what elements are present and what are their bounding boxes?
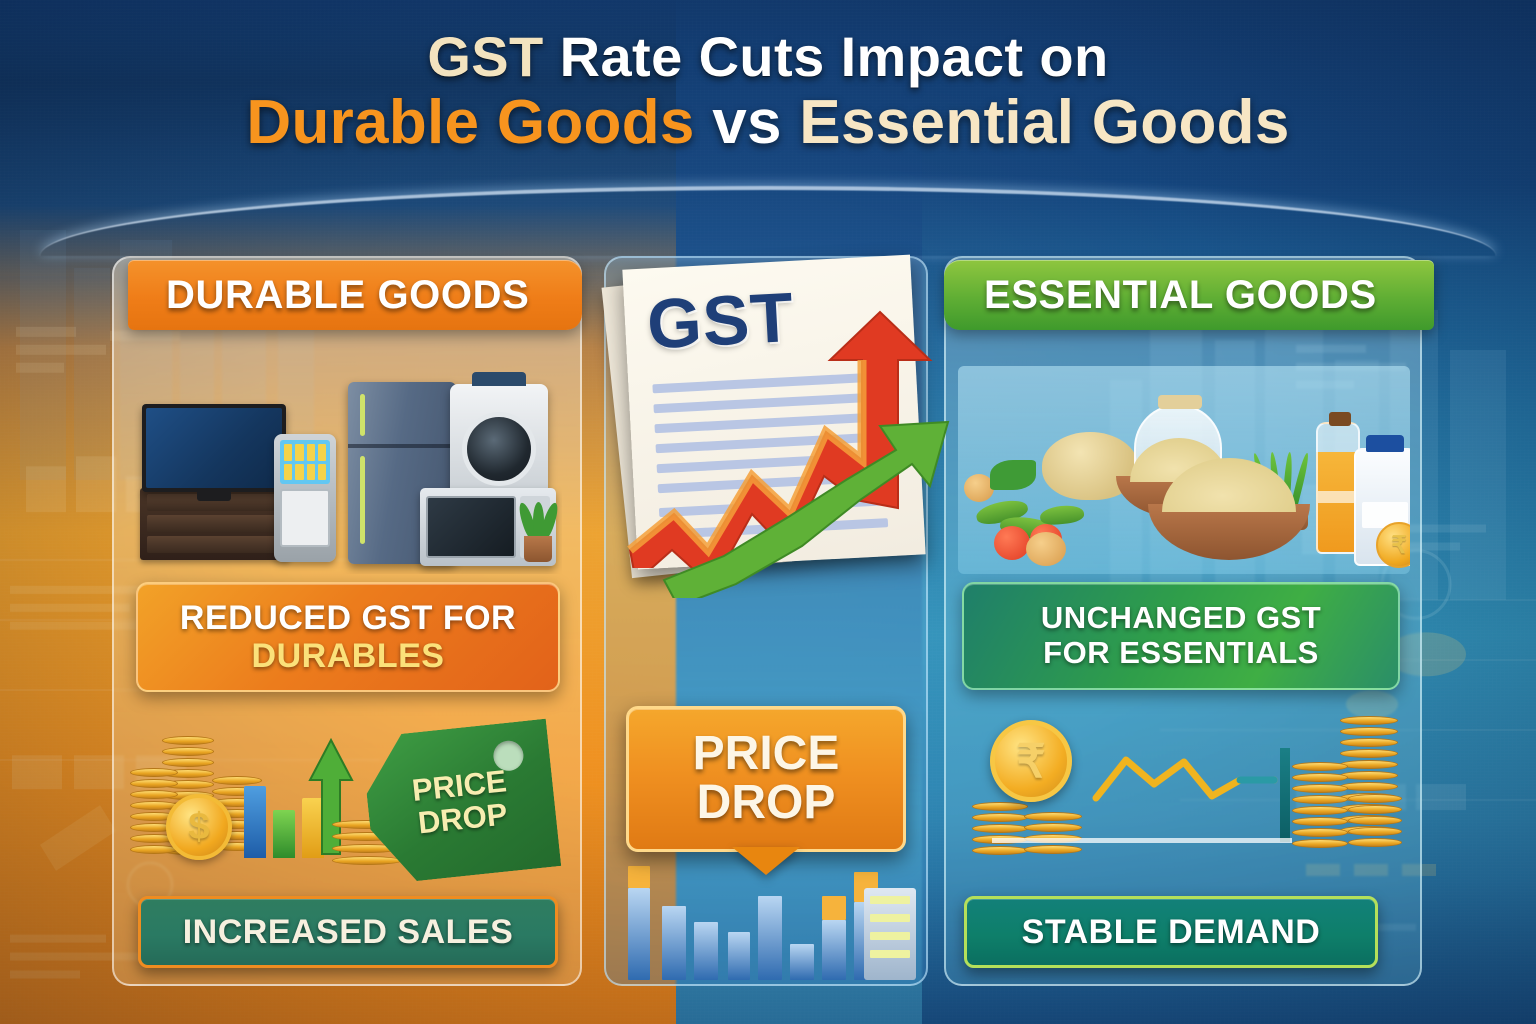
message-reduced-gst-durables[interactable]: REDUCED GST FOR DURABLES (136, 582, 560, 692)
price-drop-badge-pointer (732, 847, 800, 875)
title-vs: vs (695, 88, 800, 157)
durables-outcome-illustration: $ PRICE DROP (136, 716, 564, 888)
message-unchanged-gst-line2: FOR ESSENTIALS (1043, 636, 1319, 671)
market-activity-bar-chart (618, 862, 918, 980)
message-unchanged-gst-line1: UNCHANGED GST (1041, 601, 1321, 636)
price-drop-badge[interactable]: PRICE DROP (626, 706, 906, 852)
title-line-2: Durable Goods vs Essential Goods (0, 89, 1536, 157)
title-block: GST Rate Cuts Impact on Durable Goods vs… (0, 26, 1536, 157)
essentials-outcome-illustration: ₹ (962, 706, 1406, 888)
rice-bowl-front-icon (1148, 504, 1310, 560)
title-essential-goods: Essential Goods (799, 88, 1289, 157)
title-line-1: GST Rate Cuts Impact on (0, 26, 1536, 89)
price-drop-badge-line2: DROP (697, 779, 836, 828)
vegetables-icon (964, 436, 1092, 564)
price-drop-badge-line1: PRICE (693, 730, 840, 779)
title-gst-word: GST (427, 25, 543, 88)
green-rising-arrow-icon (650, 368, 960, 598)
message-stable-demand[interactable]: STABLE DEMAND (964, 896, 1378, 968)
chart-axis-base (992, 838, 1292, 843)
banner-essential-goods-label: ESSENTIAL GOODS (984, 273, 1377, 318)
durable-goods-illustration (134, 366, 562, 574)
infographic-canvas: GST Rate Cuts Impact on Durable Goods vs… (0, 0, 1536, 1024)
coin-stack-left-a (972, 802, 1028, 864)
potted-plant-icon (516, 476, 560, 562)
title-durable-goods: Durable Goods (246, 88, 694, 157)
message-reduced-gst-line1: REDUCED GST FOR (180, 599, 516, 637)
message-increased-sales-label: INCREASED SALES (183, 913, 514, 951)
title-line-1-rest: Rate Cuts Impact on (544, 25, 1109, 88)
message-unchanged-gst-essentials[interactable]: UNCHANGED GST FOR ESSENTIALS (962, 582, 1400, 690)
essential-goods-illustration: ₹ (958, 366, 1410, 574)
price-tag-line2: DROP (416, 797, 509, 840)
message-reduced-gst-line2: DURABLES (252, 637, 445, 675)
message-increased-sales[interactable]: INCREASED SALES (138, 896, 558, 968)
banner-durable-goods[interactable]: DURABLE GOODS (128, 260, 582, 330)
coin-stack-right-short (1348, 794, 1402, 866)
stable-demand-line-chart (1092, 740, 1278, 812)
television-icon (142, 404, 286, 492)
message-stable-demand-label: STABLE DEMAND (1022, 913, 1321, 951)
server-rack-icon (864, 888, 916, 980)
coin-stack-right-mid (1292, 762, 1348, 858)
banner-durable-goods-label: DURABLE GOODS (166, 273, 529, 318)
banner-essential-goods[interactable]: ESSENTIAL GOODS (944, 260, 1434, 330)
smartphone-icon (274, 434, 336, 562)
dollar-coin-icon: $ (166, 794, 232, 860)
chart-axis-bar (1280, 748, 1290, 842)
rupee-coin-large-icon: ₹ (990, 720, 1072, 802)
